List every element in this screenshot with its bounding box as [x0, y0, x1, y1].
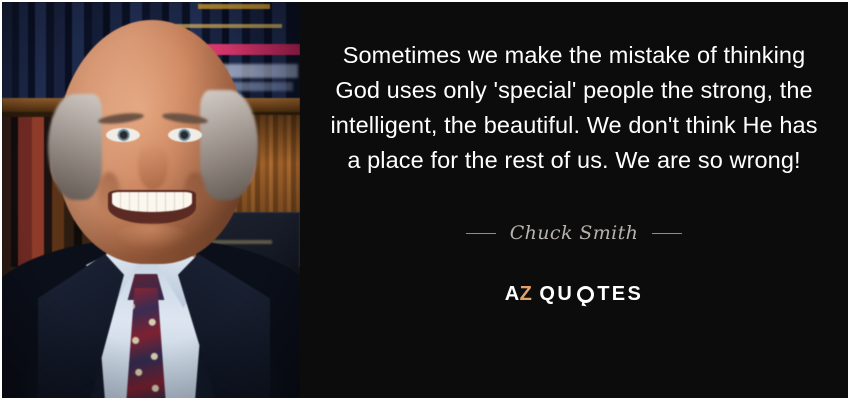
azquotes-logo[interactable]: AZ QUTES: [505, 284, 644, 304]
book-gold-band: [198, 4, 270, 9]
attribution: Chuck Smith: [466, 222, 683, 244]
nose: [138, 142, 168, 190]
quote-text: Sometimes we make the mistake of thinkin…: [326, 38, 822, 178]
logo-letter-z: Z: [520, 283, 533, 305]
hair-left: [48, 94, 102, 200]
quote-card: ★: [0, 0, 850, 400]
author-name: Chuck Smith: [510, 222, 639, 244]
speech-bubble-icon: [577, 286, 594, 303]
teeth: [112, 192, 192, 212]
dash-right-icon: [652, 233, 682, 234]
logo-az-mark: AZ: [505, 284, 533, 304]
logo-wordmark: QUTES: [539, 284, 643, 304]
eye-right: [168, 128, 202, 142]
logo-word-part-1: QU: [539, 284, 574, 304]
logo-letter-a: A: [505, 283, 520, 305]
portrait-artwork: ★: [2, 2, 300, 398]
eye-left: [106, 128, 140, 142]
dash-left-icon: [466, 233, 496, 234]
author-portrait-photo: ★: [2, 2, 300, 398]
logo-word-part-2: TES: [597, 284, 643, 304]
hair-right: [200, 90, 258, 200]
quote-panel: Sometimes we make the mistake of thinkin…: [300, 2, 848, 398]
chin: [112, 224, 190, 250]
